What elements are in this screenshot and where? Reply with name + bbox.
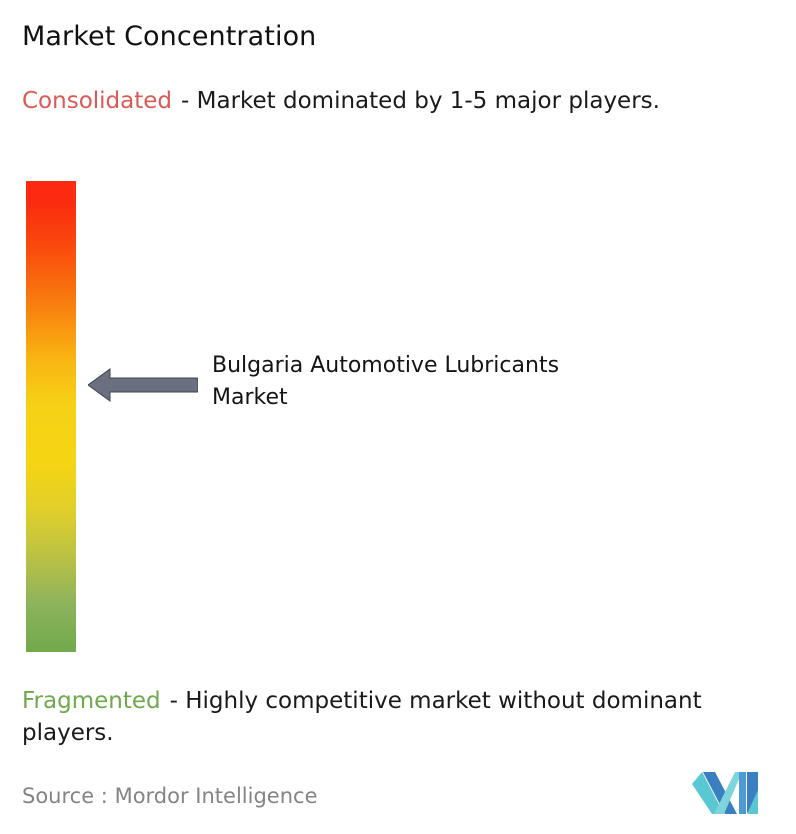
consolidated-description: Market dominated by 1-5 major players. — [197, 88, 660, 114]
page-title: Market Concentration — [22, 20, 316, 54]
fragmented-keyword: Fragmented — [22, 688, 161, 714]
fragmented-separator: - — [170, 688, 178, 714]
fragmented-caption: Fragmented- Highly competitive market wi… — [22, 685, 790, 749]
concentration-gradient-scale — [26, 181, 76, 652]
callout-label: Bulgaria Automotive Lubricants Market — [212, 350, 632, 414]
market-callout: Bulgaria Automotive Lubricants Market — [88, 350, 688, 420]
source-label: Source : — [22, 784, 108, 808]
mordor-intelligence-logo — [690, 770, 760, 816]
source-value: Mordor Intelligence — [115, 784, 318, 808]
consolidated-keyword: Consolidated — [22, 88, 172, 114]
arrow-left-icon — [88, 366, 198, 404]
consolidated-caption: Consolidated- Market dominated by 1-5 ma… — [22, 85, 772, 117]
consolidated-separator: - — [181, 88, 189, 114]
market-concentration-infographic: Market Concentration Consolidated- Marke… — [0, 0, 796, 834]
source-line: Source : Mordor Intelligence — [22, 782, 317, 810]
